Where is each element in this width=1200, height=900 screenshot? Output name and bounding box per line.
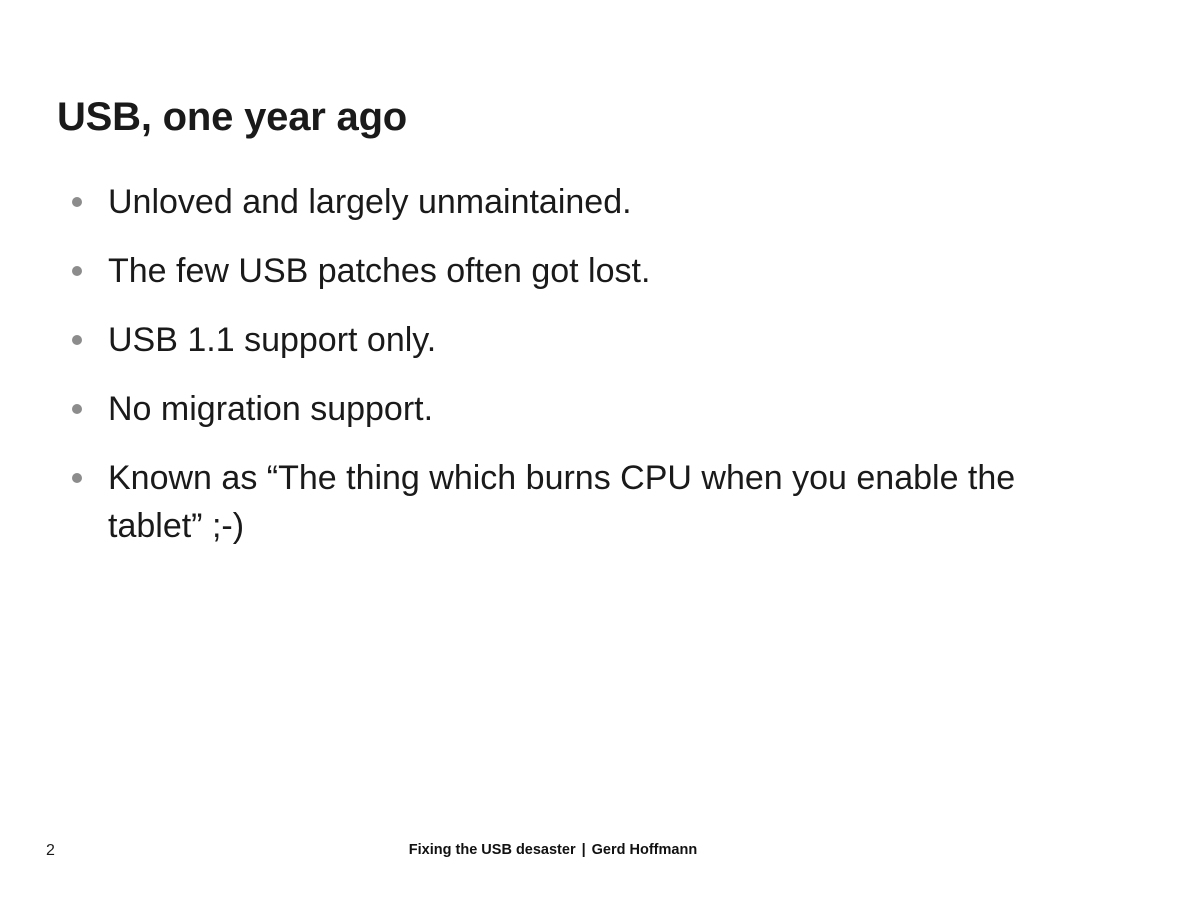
list-item: Known as “The thing which burns CPU when… [68,454,1078,550]
bullet-text: No migration support. [108,385,1078,433]
list-item: The few USB patches often got lost. [68,247,1078,295]
bullet-dot-icon [72,197,82,207]
bullet-dot-icon [72,404,82,414]
bullet-text: Unloved and largely unmaintained. [108,178,1078,226]
slide-title: USB, one year ago [57,95,407,140]
bullet-dot-icon [72,473,82,483]
presentation-title: Fixing the USB desaster [409,842,576,858]
bullet-text: The few USB patches often got lost. [108,247,1078,295]
author-name: Gerd Hoffmann [592,842,698,858]
footer-separator: | [576,842,592,858]
bullet-text: USB 1.1 support only. [108,316,1078,364]
presentation-slide: USB, one year ago Unloved and largely un… [0,0,1200,900]
slide-footer: 2 Fixing the USB desaster|Gerd Hoffmann [0,828,1200,900]
bullet-list: Unloved and largely unmaintained. The fe… [68,178,1078,550]
page-number: 2 [46,842,55,860]
footer-caption: Fixing the USB desaster|Gerd Hoffmann [368,842,738,858]
bullet-dot-icon [72,335,82,345]
bullet-text: Known as “The thing which burns CPU when… [108,454,1078,550]
list-item: Unloved and largely unmaintained. [68,178,1078,226]
bullet-dot-icon [72,266,82,276]
list-item: No migration support. [68,385,1078,433]
list-item: USB 1.1 support only. [68,316,1078,364]
